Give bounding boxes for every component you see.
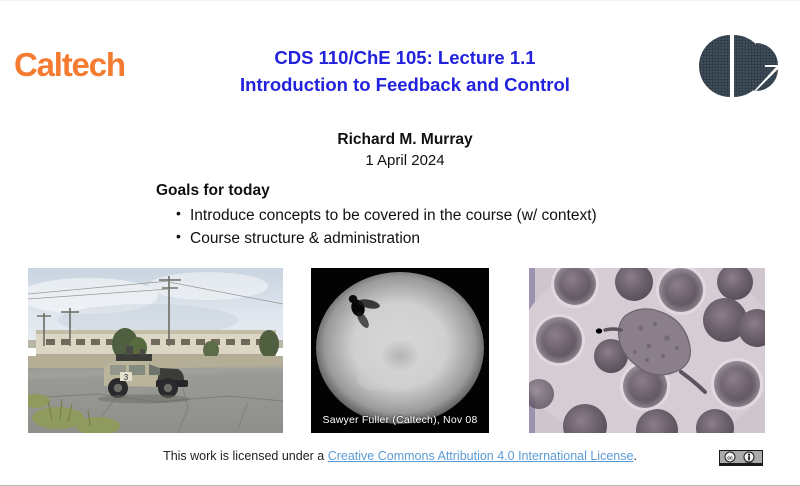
cds-logo (686, 29, 782, 103)
author-name: Richard M. Murray (160, 130, 650, 151)
presentation-date: 1 April 2024 (160, 151, 650, 171)
presentation-slide: Caltech CDS 110 (0, 0, 800, 486)
title-line-2: Introduction to Feedback and Control (160, 72, 650, 99)
figure-caption: Sawyer Fuller (Caltech), Nov 08 (311, 414, 489, 426)
title-line-1: CDS 110/ChE 105: Lecture 1.1 (160, 45, 650, 72)
svg-text:3: 3 (124, 373, 129, 382)
goals-list: Introduce concepts to be covered in the … (156, 204, 756, 251)
slide-title: CDS 110/ChE 105: Lecture 1.1 Introductio… (160, 45, 650, 99)
creative-commons-license-link[interactable]: Creative Commons Attribution 4.0 Interna… (328, 449, 634, 463)
autonomous-vehicle-photo: 3 (28, 268, 283, 433)
goals-section: Goals for today Introduce concepts to be… (156, 182, 756, 251)
goals-list-item: Introduce concepts to be covered in the … (176, 204, 756, 227)
license-suffix-text: . (633, 449, 636, 463)
license-footer: This work is licensed under a Creative C… (0, 449, 800, 463)
goals-list-item: Course structure & administration (176, 227, 756, 250)
caltech-wordmark-logo: Caltech (14, 48, 125, 81)
license-prefix-text: This work is licensed under a (163, 449, 328, 463)
creative-commons-by-badge[interactable]: cc (719, 450, 763, 466)
svg-text:cc: cc (727, 456, 733, 462)
cell-microscopy-photo (529, 268, 765, 433)
goals-heading: Goals for today (156, 182, 756, 200)
fly-flight-photo: Sawyer Fuller (Caltech), Nov 08 (311, 268, 489, 433)
byline: Richard M. Murray 1 April 2024 (160, 130, 650, 171)
